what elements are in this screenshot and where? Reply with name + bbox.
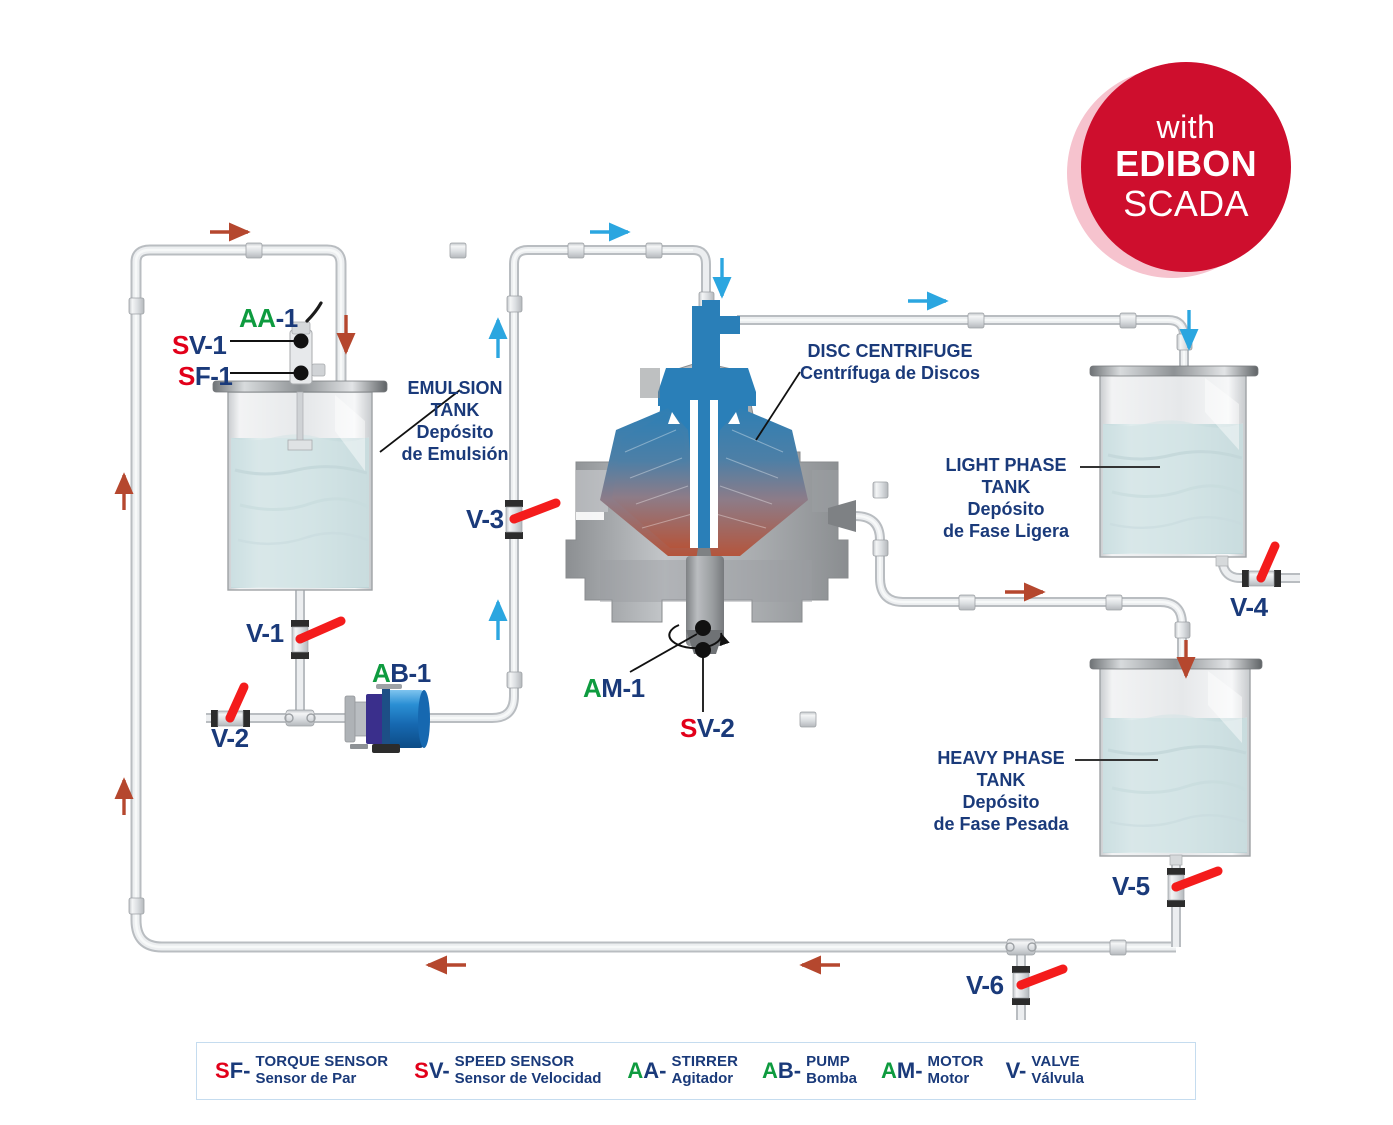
tag-ab1: AB-1 [372, 658, 431, 689]
tag-sf1-prefix: S [178, 361, 195, 391]
valve-v6[interactable] [1012, 966, 1063, 1005]
tag-v6: V-6 [966, 970, 1004, 1001]
legend-item-sv: SV- SPEED SENSOR Sensor de Velocidad [414, 1054, 601, 1088]
light-phase-tank [1080, 366, 1258, 566]
legend-text-aa: STIRRER Agitador [671, 1054, 738, 1088]
tee-fitting-v6 [1006, 939, 1036, 955]
legend-code-ab: AB- [762, 1058, 801, 1084]
tag-aa1-prefix: AA [239, 303, 276, 333]
legend-text-sf: TORQUE SENSOR Sensor de Par [255, 1054, 388, 1088]
emulsion-tank-label-es2: de Emulsión [385, 444, 525, 466]
heavy-phase-tank-label-en2: TANK [920, 770, 1082, 792]
valve-v2[interactable] [211, 687, 250, 727]
valve-v5[interactable] [1167, 868, 1218, 907]
tee-fitting [285, 710, 315, 726]
legend-code-sf: SF- [215, 1058, 250, 1084]
badge-with-label: with [1157, 111, 1216, 145]
heavy-phase-tank-label-en1: HEAVY PHASE [920, 748, 1082, 770]
tag-v4-label: V-4 [1230, 592, 1268, 622]
tag-sf1: SF-1 [178, 361, 232, 392]
emulsion-tank-label-en2: TANK [385, 400, 525, 422]
tag-v6-label: V-6 [966, 970, 1004, 1000]
badge-product-label: SCADA [1123, 184, 1249, 224]
tag-v3-label: V-3 [466, 504, 504, 534]
legend-code-aa: AA- [627, 1058, 666, 1084]
heavy-phase-tank-label-es2: de Fase Pesada [920, 814, 1082, 836]
tag-v1-label: V-1 [246, 618, 284, 648]
legend-item-aa: AA- STIRRER Agitador [627, 1054, 738, 1088]
tag-sv1: SV-1 [172, 330, 226, 361]
legend-text-ab: PUMP Bomba [806, 1054, 857, 1088]
tag-v5-label: V-5 [1112, 871, 1150, 901]
tag-sv1-suffix: V-1 [189, 330, 227, 360]
legend-code-sv: SV- [414, 1058, 449, 1084]
tag-ab1-prefix: A [372, 658, 390, 688]
light-phase-tank-label-es2: de Fase Ligera [930, 521, 1082, 543]
legend-code-am: AM- [881, 1058, 923, 1084]
valve-v3[interactable] [505, 500, 556, 539]
tag-aa1: AA-1 [239, 303, 298, 334]
emulsion-tank-label-en1: EMULSION [385, 378, 525, 400]
heavy-phase-tank-label-es1: Depósito [920, 792, 1082, 814]
disc-centrifuge-label: DISC CENTRIFUGE Centrífuga de Discos [790, 341, 990, 385]
tag-am1: AM-1 [583, 673, 645, 704]
legend-item-sf: SF- TORQUE SENSOR Sensor de Par [215, 1054, 388, 1088]
tag-am1-prefix: A [583, 673, 601, 703]
tag-v4: V-4 [1230, 592, 1268, 623]
legend-item-am: AM- MOTOR Motor [881, 1054, 984, 1088]
tag-sv2: SV-2 [680, 713, 734, 744]
tag-sv2-suffix: V-2 [697, 713, 735, 743]
disc-centrifuge-label-es: Centrífuga de Discos [790, 363, 990, 385]
legend-item-v: V- VALVE Válvula [1006, 1054, 1084, 1088]
tag-sv2-prefix: S [680, 713, 697, 743]
badge-brand-label: EDIBON [1115, 144, 1257, 184]
light-phase-tank-label-es1: Depósito [930, 499, 1082, 521]
tag-v5: V-5 [1112, 871, 1150, 902]
legend-text-sv: SPEED SENSOR Sensor de Velocidad [455, 1054, 602, 1088]
tag-v2-label: V-2 [211, 723, 249, 753]
heavy-phase-tank-label: HEAVY PHASE TANK Depósito de Fase Pesada [920, 748, 1082, 836]
tag-v2: V-2 [211, 723, 249, 754]
valve-v1[interactable] [291, 620, 341, 659]
tag-sf1-suffix: F-1 [195, 361, 233, 391]
legend-bar: SF- TORQUE SENSOR Sensor de Par SV- SPEE… [196, 1042, 1196, 1100]
tag-aa1-suffix: -1 [276, 303, 298, 333]
pump-ab1 [345, 684, 430, 753]
disc-centrifuge-label-en: DISC CENTRIFUGE [790, 341, 990, 363]
light-phase-tank-label-en1: LIGHT PHASE [930, 455, 1082, 477]
tag-v1: V-1 [246, 618, 284, 649]
legend-text-v: VALVE Válvula [1031, 1054, 1084, 1088]
light-phase-tank-label: LIGHT PHASE TANK Depósito de Fase Ligera [930, 455, 1082, 543]
process-flow-diagram: with EDIBON SCADA EMULSION TANK Depósito… [0, 0, 1393, 1125]
tag-v3: V-3 [466, 504, 504, 535]
tag-ab1-suffix: B-1 [390, 658, 430, 688]
tag-am1-suffix: M-1 [601, 673, 644, 703]
valve-v4[interactable] [1242, 546, 1281, 587]
edibon-scada-badge: with EDIBON SCADA [1067, 62, 1291, 286]
legend-code-v: V- [1006, 1058, 1027, 1084]
emulsion-tank-label-es1: Depósito [385, 422, 525, 444]
emulsion-tank-label: EMULSION TANK Depósito de Emulsión [385, 378, 525, 466]
heavy-phase-tank [1075, 659, 1262, 865]
light-phase-tank-label-en2: TANK [930, 477, 1082, 499]
tag-sv1-prefix: S [172, 330, 189, 360]
legend-text-am: MOTOR Motor [928, 1054, 984, 1088]
legend-item-ab: AB- PUMP Bomba [762, 1054, 857, 1088]
